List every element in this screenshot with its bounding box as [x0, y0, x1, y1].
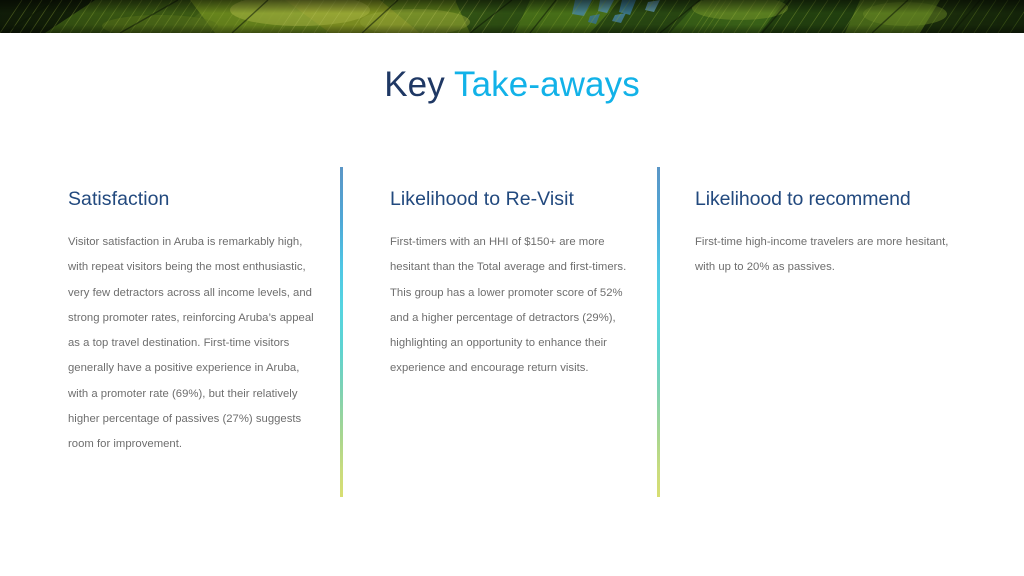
column-body-text: First-time high-income travelers are mor…	[695, 230, 957, 281]
title-text: Key Take-aways	[0, 63, 1024, 107]
column-divider-1	[340, 167, 343, 497]
column-heading: Likelihood to recommend	[695, 186, 957, 212]
slide-canvas: Key Take-aways Satisfaction Visitor sati…	[0, 0, 1024, 576]
column-body-text: First-timers with an HHI of $150+ are mo…	[390, 230, 638, 382]
palm-frond-illustration	[0, 0, 1024, 33]
column-heading: Likelihood to Re-Visit	[390, 186, 638, 212]
title-part-key: Key	[384, 65, 454, 104]
column-heading: Satisfaction	[68, 186, 318, 212]
takeaway-column-likelihood-to-revisit: Likelihood to Re-Visit First-timers with…	[390, 186, 638, 382]
column-body-text: Visitor satisfaction in Aruba is remarka…	[68, 230, 318, 458]
title-part-takeaways: Take-aways	[454, 65, 640, 104]
takeaway-column-satisfaction: Satisfaction Visitor satisfaction in Aru…	[68, 186, 318, 458]
column-divider-2	[657, 167, 660, 497]
page-title: Key Take-aways	[0, 63, 1024, 107]
palm-frond-banner-image	[0, 0, 1024, 33]
takeaway-column-likelihood-to-recommend: Likelihood to recommend First-time high-…	[695, 186, 957, 281]
